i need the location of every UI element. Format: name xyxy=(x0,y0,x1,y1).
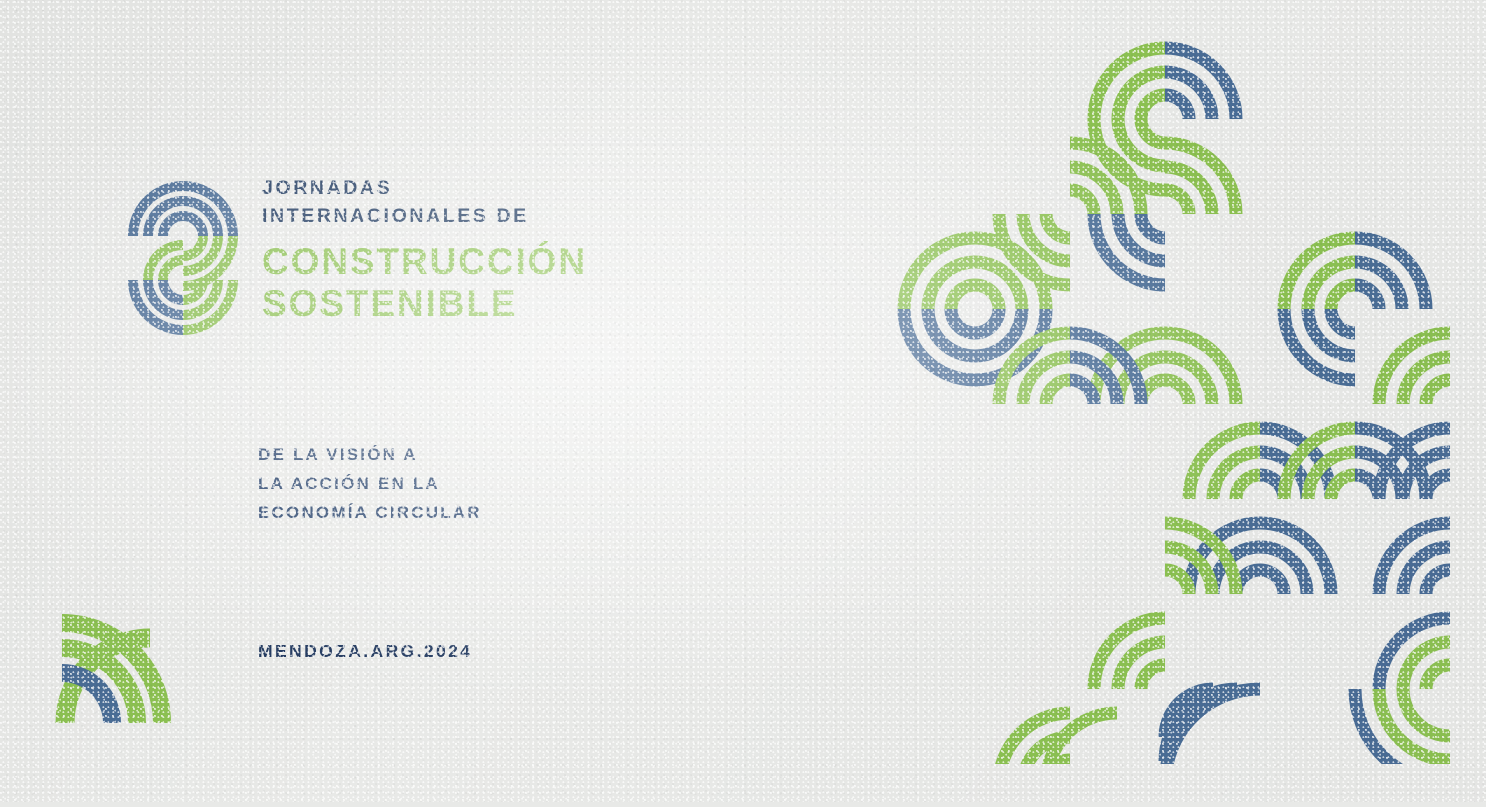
logo-wordmark: JORNADAS INTERNACIONALES DE CONSTRUCCIÓN… xyxy=(262,168,587,325)
event-tagline: DE LA VISIÓN A LA ACCIÓN EN LA ECONOMÍA … xyxy=(258,440,482,528)
event-kicker: JORNADAS INTERNACIONALES DE xyxy=(262,174,587,231)
circular-arcs-logo-mark xyxy=(128,168,248,348)
logo-lockup: JORNADAS INTERNACIONALES DE CONSTRUCCIÓN… xyxy=(128,168,587,348)
concentric-arc-pattern xyxy=(880,24,1486,764)
quarter-arc-corner-motif xyxy=(40,613,220,802)
event-title: CONSTRUCCIÓN SOSTENIBLE xyxy=(262,241,587,325)
location-year: MENDOZA.ARG.2024 xyxy=(258,641,472,662)
left-content-column: JORNADAS INTERNACIONALES DE CONSTRUCCIÓN… xyxy=(0,0,760,802)
